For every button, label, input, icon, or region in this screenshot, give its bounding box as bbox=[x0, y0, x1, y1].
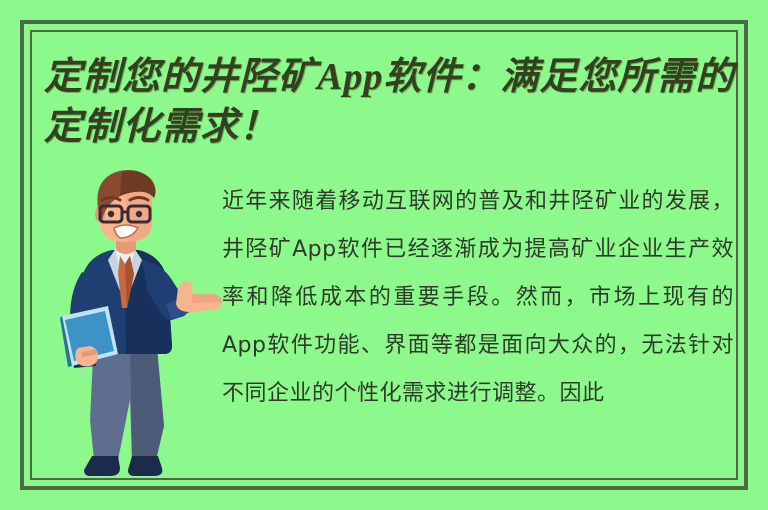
page-title: 定制您的井陉矿App软件：满足您所需的定制化需求！ bbox=[44, 52, 738, 152]
shoes-shape bbox=[84, 456, 162, 476]
body-text-block: 近年来随着移动互联网的普及和井陉矿业的发展，井陉矿App软件已经逐渐成为提高矿业… bbox=[222, 178, 734, 418]
left-hand bbox=[75, 346, 98, 366]
body-paragraph: 近年来随着移动互联网的普及和井陉矿业的发展，井陉矿App软件已经逐渐成为提高矿业… bbox=[222, 178, 734, 418]
businessman-illustration bbox=[60, 168, 230, 480]
poster-canvas: 定制您的井陉矿App软件：满足您所需的定制化需求！ 近年来随着移动互联网的普及和… bbox=[0, 0, 768, 510]
right-hand bbox=[176, 281, 222, 312]
